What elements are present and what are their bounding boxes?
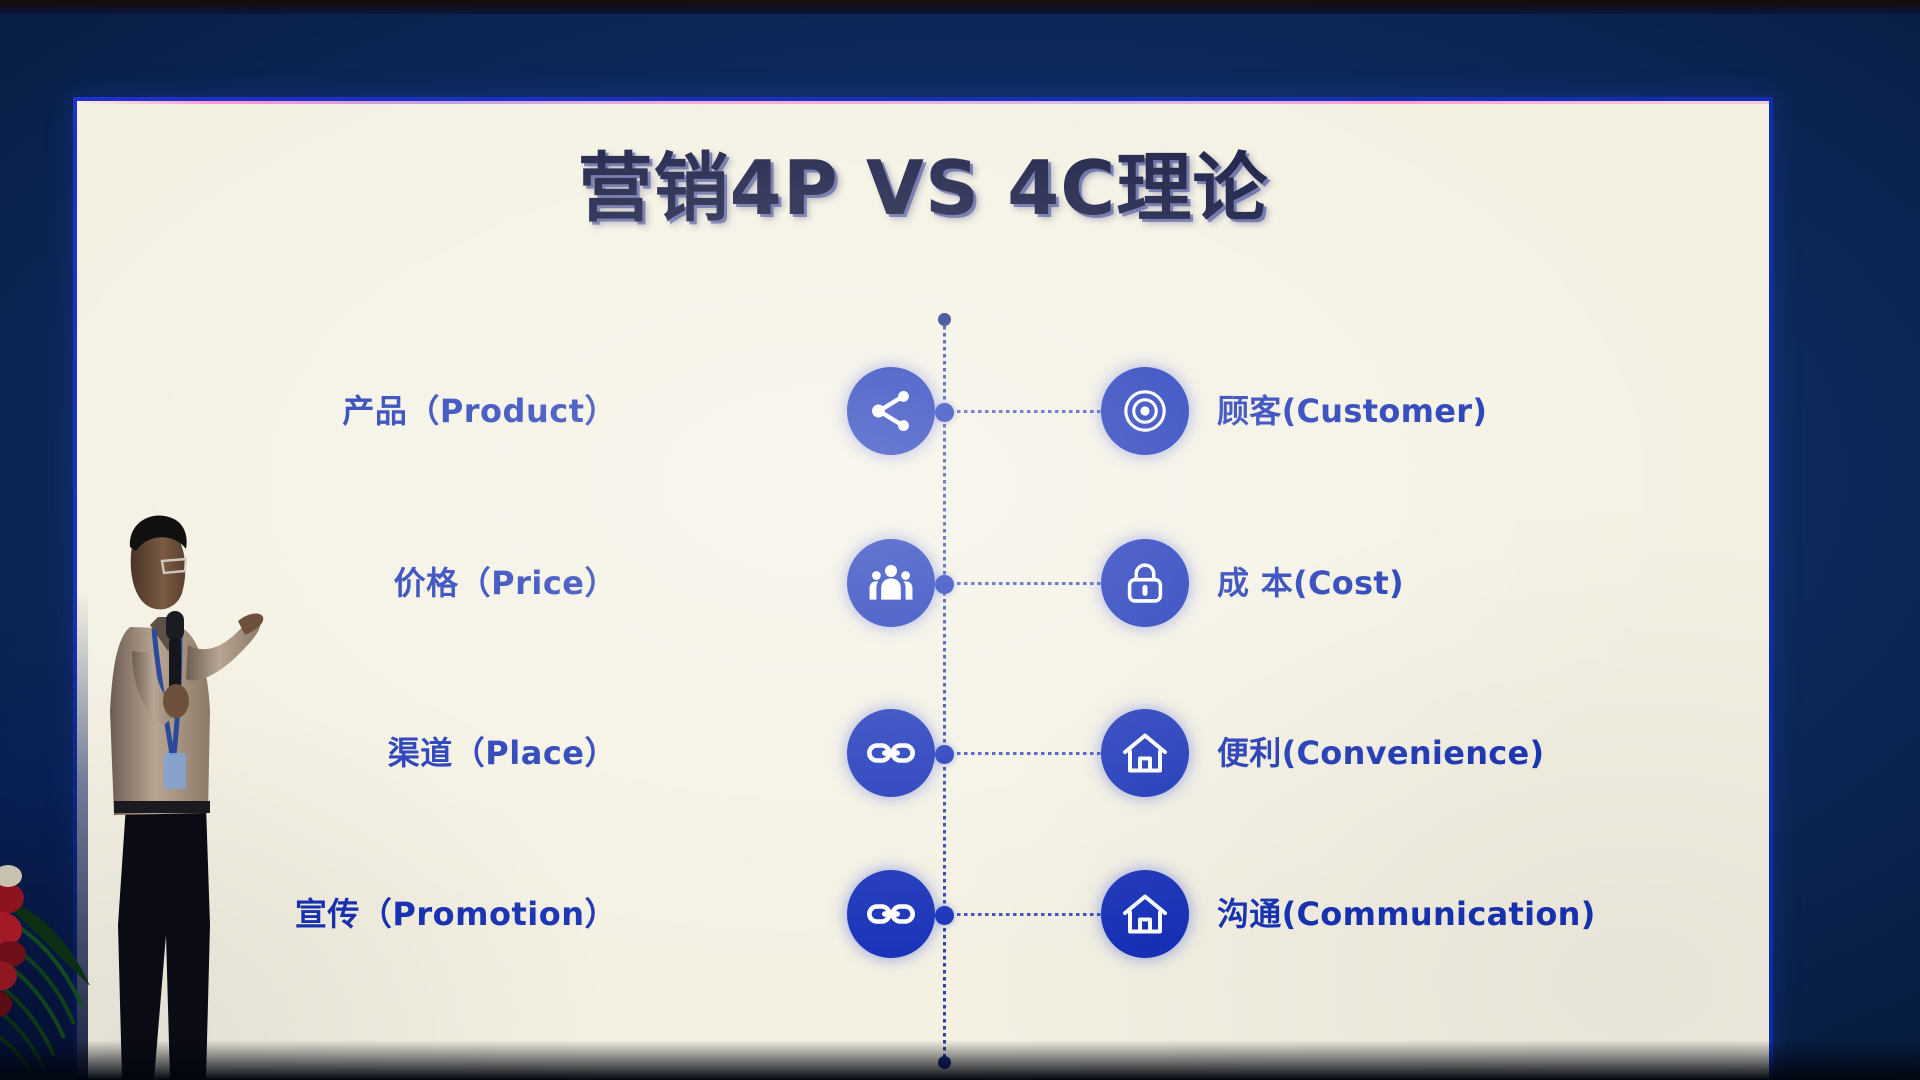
- share-network-icon[interactable]: [847, 367, 935, 455]
- right-label-cost: 成 本(Cost): [1217, 528, 1769, 638]
- connector-right: [943, 410, 1101, 413]
- compact-disc-icon[interactable]: [1101, 367, 1189, 455]
- lock-icon[interactable]: [1101, 539, 1189, 627]
- right-label-convenience: 便利(Convenience): [1217, 698, 1769, 808]
- photo-scene: 营销4P VS 4C理论 产品（Product）: [0, 0, 1920, 1080]
- people-group-icon[interactable]: [847, 539, 935, 627]
- foreground-shadow: [0, 1040, 1920, 1080]
- connector-right: [943, 752, 1101, 755]
- projection-screen-frame: 营销4P VS 4C理论 产品（Product）: [73, 97, 1773, 1080]
- spine-node: [935, 745, 954, 764]
- chain-link-icon[interactable]: [847, 870, 935, 958]
- spine-node: [935, 575, 954, 594]
- spine-top-dot: [938, 313, 951, 326]
- home-icon[interactable]: [1101, 870, 1189, 958]
- right-label-customer: 顾客(Customer): [1217, 356, 1769, 466]
- left-label-product: 产品（Product）: [97, 356, 617, 466]
- chain-link-icon[interactable]: [847, 709, 935, 797]
- left-label-place: 渠道（Place）: [97, 698, 617, 808]
- spine-node: [935, 403, 954, 422]
- ceiling-shadow-band: [0, 0, 1920, 14]
- diagram-row: 产品（Product）: [77, 356, 1769, 466]
- left-label-price: 价格（Price）: [97, 528, 617, 638]
- marketing-4p-4c-diagram: 产品（Product）: [77, 101, 1769, 1080]
- spine-node: [935, 906, 954, 925]
- right-label-communication: 沟通(Communication): [1217, 859, 1769, 969]
- diagram-row: 宣传（Promotion）: [77, 859, 1769, 969]
- home-icon[interactable]: [1101, 709, 1189, 797]
- connector-right: [943, 913, 1101, 916]
- diagram-row: 渠道（Place）: [77, 698, 1769, 808]
- projection-screen: 营销4P VS 4C理论 产品（Product）: [77, 101, 1769, 1080]
- diagram-row: 价格（Price）: [77, 528, 1769, 638]
- left-label-promotion: 宣传（Promotion）: [97, 859, 617, 969]
- connector-right: [943, 582, 1101, 585]
